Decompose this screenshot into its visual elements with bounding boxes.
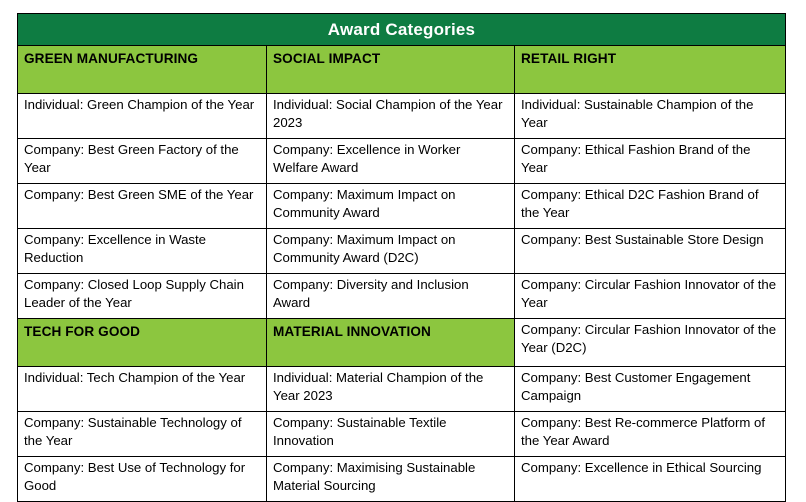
page-root: Award Categories GREEN MANUFACTURING SOC… [0, 0, 806, 484]
table-row: Company: Excellence in Waste Reduction C… [18, 229, 786, 274]
section-header-green-manufacturing: GREEN MANUFACTURING [18, 46, 267, 94]
table-row: Company: Sustainable Technology of the Y… [18, 412, 786, 457]
table-row: Company: Best Use of Technology for Good… [18, 457, 786, 502]
award-cell: Company: Closed Loop Supply Chain Leader… [18, 274, 267, 319]
award-cell: Company: Diversity and Inclusion Award [267, 274, 515, 319]
award-cell: Company: Circular Fashion Innovator of t… [515, 274, 786, 319]
award-cell: Company: Sustainable Technology of the Y… [18, 412, 267, 457]
table-row: Company: Closed Loop Supply Chain Leader… [18, 274, 786, 319]
table-row: Individual: Green Champion of the Year I… [18, 94, 786, 139]
award-cell: Individual: Green Champion of the Year [18, 94, 267, 139]
section-header-retail-right: RETAIL RIGHT [515, 46, 786, 94]
section-header-material-innovation: MATERIAL INNOVATION [267, 319, 515, 367]
award-cell: Company: Ethical Fashion Brand of the Ye… [515, 139, 786, 184]
award-cell: Individual: Tech Champion of the Year [18, 367, 267, 412]
award-cell: Individual: Material Champion of the Yea… [267, 367, 515, 412]
award-cell: Company: Excellence in Waste Reduction [18, 229, 267, 274]
section-header-social-impact: SOCIAL IMPACT [267, 46, 515, 94]
award-categories-table: Award Categories GREEN MANUFACTURING SOC… [17, 13, 786, 502]
award-cell: Individual: Social Champion of the Year … [267, 94, 515, 139]
award-cell: Company: Maximum Impact on Community Awa… [267, 184, 515, 229]
award-cell: Company: Sustainable Textile Innovation [267, 412, 515, 457]
award-cell: Company: Excellence in Ethical Sourcing [515, 457, 786, 502]
award-cell: Company: Ethical D2C Fashion Brand of th… [515, 184, 786, 229]
award-cell: Company: Best Use of Technology for Good [18, 457, 267, 502]
section-header-row-2: TECH FOR GOOD MATERIAL INNOVATION Compan… [18, 319, 786, 367]
table-title: Award Categories [18, 14, 786, 46]
award-cell: Company: Best Customer Engagement Campai… [515, 367, 786, 412]
award-cell: Company: Best Green SME of the Year [18, 184, 267, 229]
award-cell: Company: Excellence in Worker Welfare Aw… [267, 139, 515, 184]
award-cell: Company: Circular Fashion Innovator of t… [515, 319, 786, 367]
award-cell: Company: Maximising Sustainable Material… [267, 457, 515, 502]
section-header-tech-for-good: TECH FOR GOOD [18, 319, 267, 367]
table-title-row: Award Categories [18, 14, 786, 46]
table-row: Individual: Tech Champion of the Year In… [18, 367, 786, 412]
award-cell: Individual: Sustainable Champion of the … [515, 94, 786, 139]
award-cell: Company: Best Re-commerce Platform of th… [515, 412, 786, 457]
award-cell: Company: Best Sustainable Store Design [515, 229, 786, 274]
award-categories-table-wrapper: Award Categories GREEN MANUFACTURING SOC… [17, 13, 785, 470]
award-cell: Company: Maximum Impact on Community Awa… [267, 229, 515, 274]
table-row: Company: Best Green SME of the Year Comp… [18, 184, 786, 229]
section-header-row-1: GREEN MANUFACTURING SOCIAL IMPACT RETAIL… [18, 46, 786, 94]
award-cell: Company: Best Green Factory of the Year [18, 139, 267, 184]
table-row: Company: Best Green Factory of the Year … [18, 139, 786, 184]
